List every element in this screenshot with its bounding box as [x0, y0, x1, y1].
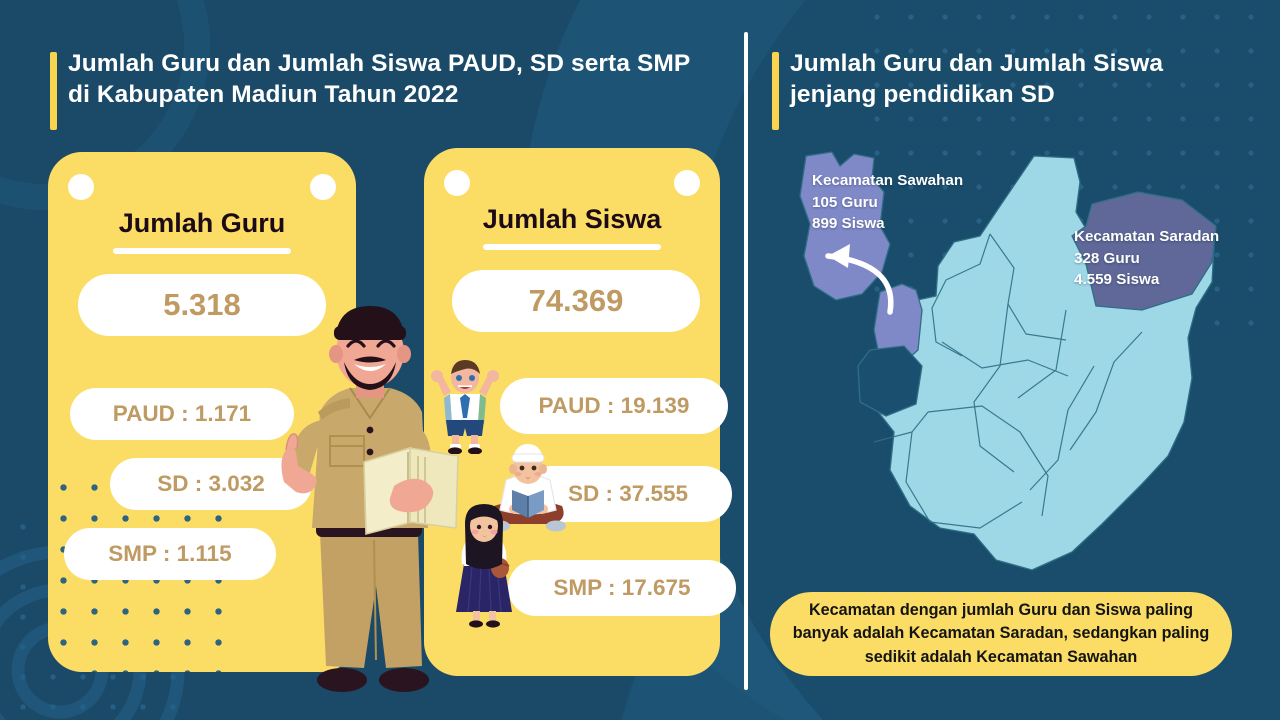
card-underline: [483, 244, 661, 250]
card-punch-hole-left: [68, 174, 94, 200]
page-title-right: Jumlah Guru dan Jumlah Siswa jenjang pen…: [790, 48, 1230, 111]
siswa-smp-value: SMP : 17.675: [508, 560, 736, 616]
student-girl-illustration: [448, 502, 520, 630]
map-caption: Kecamatan dengan jumlah Guru dan Siswa p…: [770, 592, 1232, 676]
guru-smp-value: SMP : 1.115: [64, 528, 276, 580]
card-punch-hole-left: [444, 170, 470, 196]
map-label-sawahan-teachers: 105 Guru: [812, 192, 963, 214]
map-label-saradan-district: Kecamatan Saradan: [1074, 226, 1219, 248]
vertical-divider: [744, 32, 748, 690]
siswa-total-value: 74.369: [452, 270, 700, 332]
map-district-shadow-patch: [858, 346, 922, 416]
page-title-left: Jumlah Guru dan Jumlah Siswa PAUD, SD se…: [68, 48, 708, 111]
map-label-sawahan-district: Kecamatan Sawahan: [812, 170, 963, 192]
title-accent-bar-right: [772, 52, 779, 130]
title-accent-bar-left: [50, 52, 57, 130]
title-left-text: Jumlah Guru dan Jumlah Siswa PAUD, SD se…: [68, 50, 690, 108]
guru-paud-value: PAUD : 1.171: [70, 388, 294, 440]
infographic-canvas: Jumlah Guru dan Jumlah Siswa PAUD, SD se…: [0, 0, 1280, 720]
card-punch-hole-right: [674, 170, 700, 196]
card-punch-hole-right: [310, 174, 336, 200]
card-title-guru: Jumlah Guru: [48, 208, 356, 239]
card-title-siswa: Jumlah Siswa: [424, 204, 720, 235]
map-label-sawahan-students: 899 Siswa: [812, 213, 963, 235]
madiun-regency-map: Kecamatan Sawahan 105 Guru 899 Siswa Kec…: [762, 142, 1262, 572]
map-label-saradan: Kecamatan Saradan 328 Guru 4.559 Siswa: [1074, 226, 1219, 291]
card-underline: [113, 248, 291, 254]
map-label-saradan-teachers: 328 Guru: [1074, 248, 1219, 270]
map-label-saradan-students: 4.559 Siswa: [1074, 269, 1219, 291]
map-label-sawahan: Kecamatan Sawahan 105 Guru 899 Siswa: [812, 170, 963, 235]
siswa-paud-value: PAUD : 19.139: [500, 378, 728, 434]
title-right-text: Jumlah Guru dan Jumlah Siswa jenjang pen…: [790, 50, 1163, 108]
